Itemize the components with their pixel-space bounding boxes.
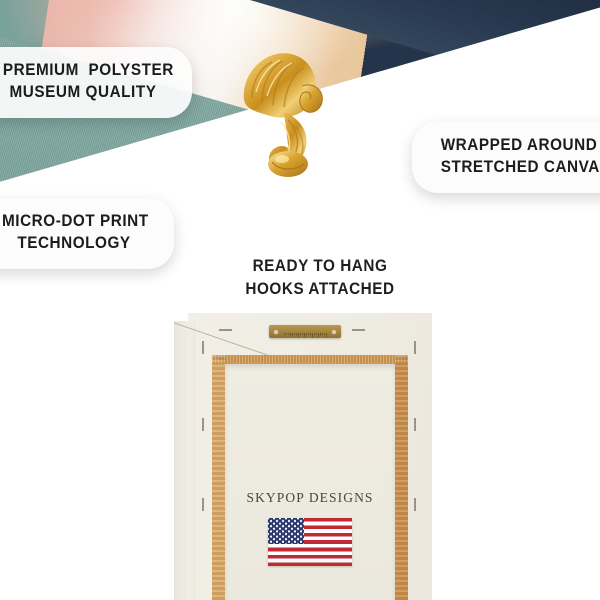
feature-line-1: PREMIUM POLYSTER — [3, 59, 163, 81]
feature-pill-micro-dot-print: MICRO-DOT PRINT TECHNOLOGY — [0, 198, 174, 269]
feature-line-2: MUSEUM QUALITY — [3, 81, 163, 103]
feature-pill-premium-polyster: PREMIUM POLYSTER MUSEUM QUALITY — [0, 47, 192, 118]
caption-ready-to-hang: READY TO HANG HOOKS ATTACHED — [215, 255, 425, 301]
staple-icon — [414, 341, 416, 354]
caption-line-2: HOOKS ATTACHED — [226, 278, 415, 301]
staple-icon — [414, 418, 416, 431]
feature-pill-wrapped-around: WRAPPED AROUND STRETCHED CANVAS — [412, 122, 600, 193]
feature-line-1: WRAPPED AROUND — [441, 134, 598, 156]
brand-name: SKYPOP DESIGNS — [226, 490, 394, 506]
staple-icon — [414, 498, 416, 511]
feature-line-1: MICRO-DOT PRINT — [2, 210, 146, 232]
staple-icon — [202, 498, 204, 511]
canvas-side-panel-left — [174, 321, 196, 600]
caption-line-1: READY TO HANG — [226, 255, 415, 278]
flag-canton — [268, 518, 304, 544]
feature-line-2: STRETCHED CANVAS — [441, 156, 598, 178]
staple-icon — [202, 418, 204, 431]
gold-corner-ornament-icon — [232, 42, 336, 178]
staple-icon — [202, 341, 204, 354]
staple-icon — [352, 329, 365, 331]
feature-line-2: TECHNOLOGY — [2, 232, 146, 254]
product-infographic: PREMIUM POLYSTER MUSEUM QUALITY MICRO-DO… — [0, 0, 600, 600]
wood-grain-left — [212, 355, 225, 600]
wood-grain-right — [395, 355, 408, 600]
canvas-back-view: SKYPOP DESIGNS — [174, 313, 432, 600]
usa-flag-icon — [268, 518, 352, 566]
wood-grain-top — [212, 355, 408, 364]
staple-icon — [219, 329, 232, 331]
